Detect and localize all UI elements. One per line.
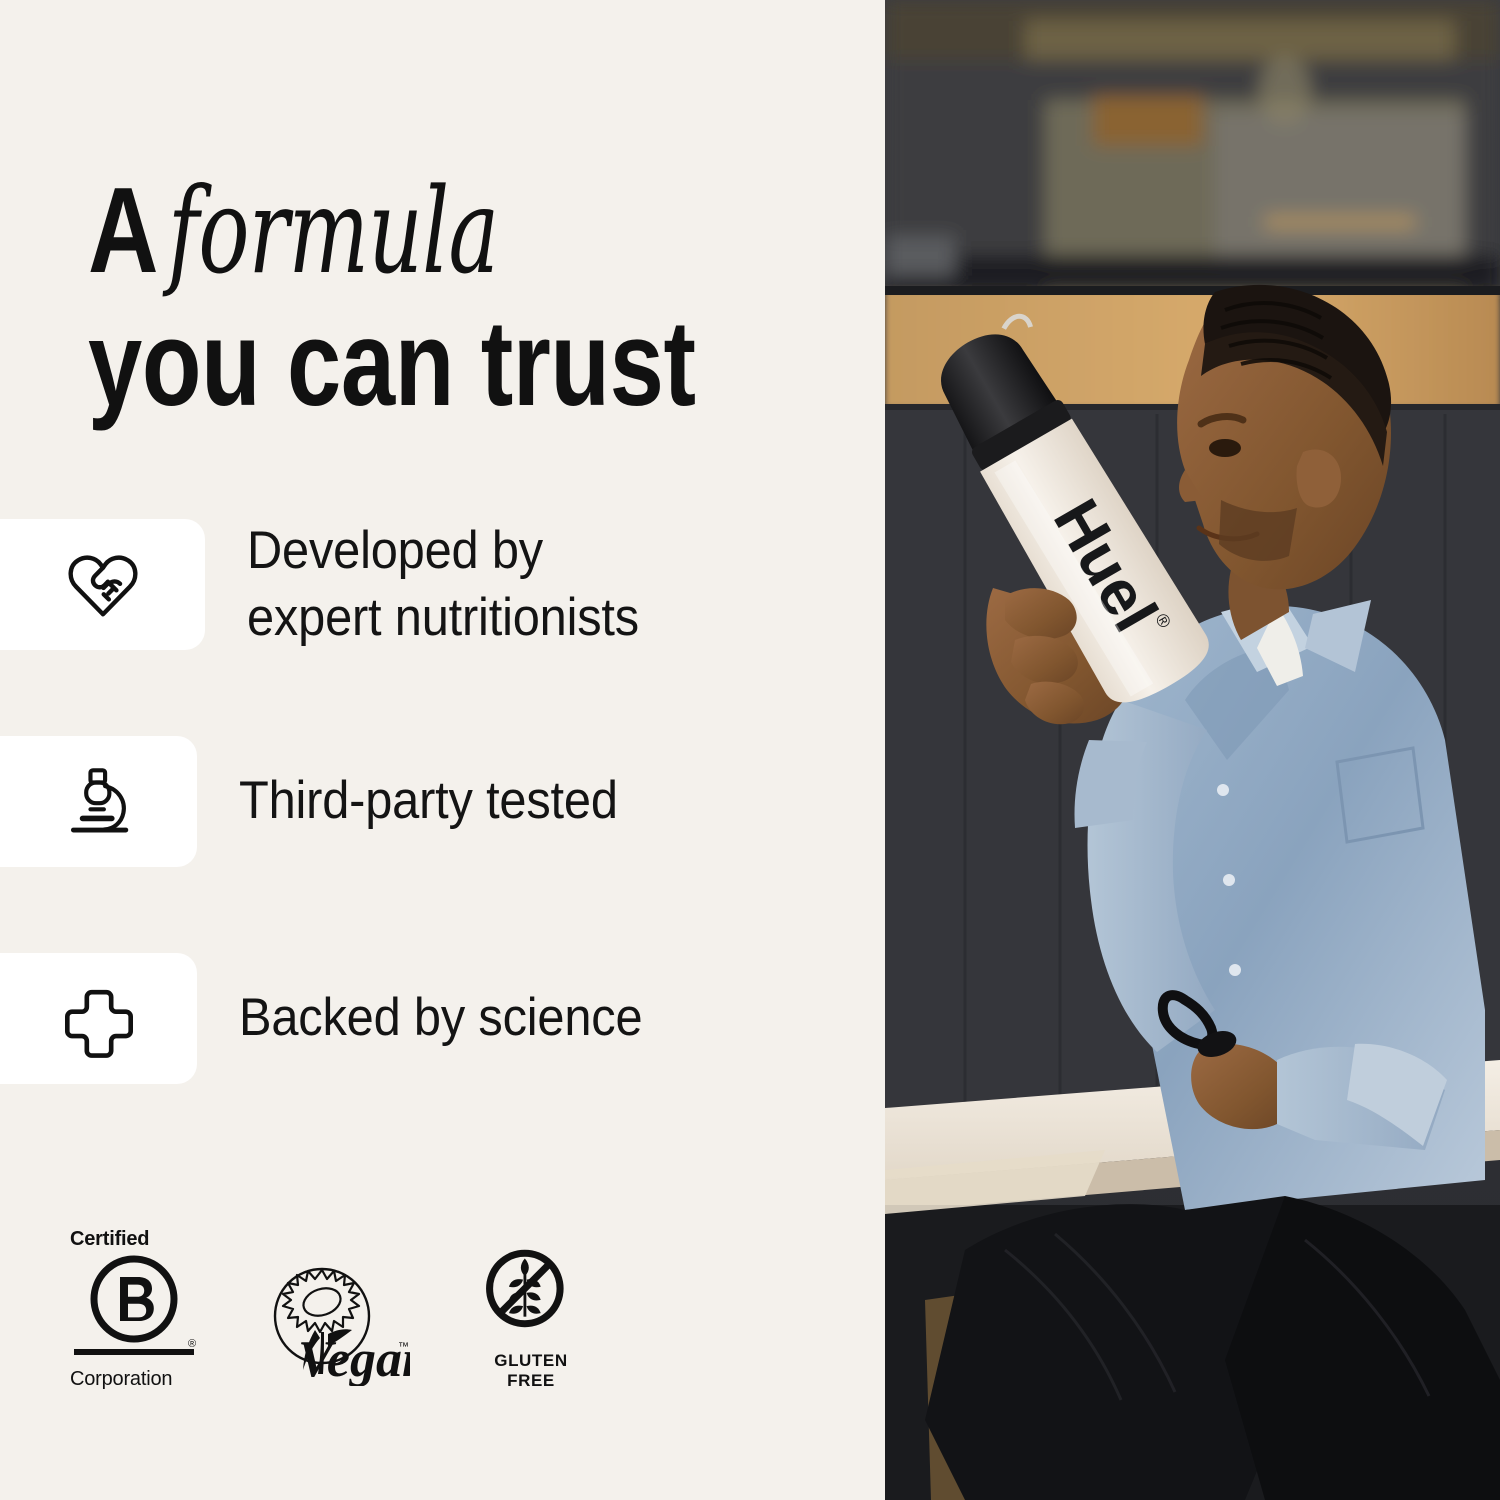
feature-list: Developed by expert nutritionists [0, 512, 885, 1163]
feature-item-third-party-tested: Third-party tested [0, 729, 885, 874]
left-content-panel: Aformula you can trust [0, 0, 885, 1500]
b-corp-bottom-label: Corporation [70, 1368, 198, 1391]
headline-line-1: Aformula [88, 171, 712, 289]
vegan-sunflower-icon: Vegan ™ [260, 1373, 410, 1390]
headline-line-2: you can trust [88, 304, 712, 422]
crossed-wheat-icon [479, 1327, 583, 1344]
photo-illustration: Huel ® [885, 0, 1500, 1500]
lifestyle-photo: Huel ® [885, 0, 1500, 1500]
heart-handshake-icon [64, 546, 142, 624]
page-title: Aformula you can trust [88, 171, 868, 422]
feature-label: Third-party tested [239, 768, 618, 834]
feature-item-backed-by-science: Backed by science [0, 946, 885, 1091]
gluten-free-badge: GLUTEN FREE [472, 1244, 590, 1391]
gluten-free-label: GLUTEN FREE [472, 1351, 590, 1391]
b-corp-top-label: Certified [70, 1228, 198, 1251]
feature-label: Backed by science [239, 985, 642, 1051]
b-corp-badge: Certified ® Corporation [70, 1228, 198, 1391]
feature-item-developed-by-nutritionists: Developed by expert nutritionists [0, 512, 885, 657]
b-corp-mark-icon: ® [70, 1255, 198, 1364]
huel-trust-panel: Aformula you can trust [0, 0, 1500, 1500]
headline-word-a: A [88, 162, 158, 298]
svg-text:®: ® [188, 1338, 196, 1350]
feature-label: Developed by expert nutritionists [247, 518, 639, 651]
svg-text:Vegan: Vegan [298, 1331, 410, 1386]
microscope-icon [60, 763, 138, 841]
feature-icon-card [0, 519, 205, 650]
feature-icon-card [0, 953, 197, 1084]
plus-cross-icon [60, 980, 138, 1058]
feature-icon-card [0, 736, 197, 867]
vegan-badge: Vegan ™ [260, 1254, 410, 1391]
certification-badges: Certified ® Corporation [70, 1228, 590, 1391]
headline-emphasis-formula: formula [158, 162, 498, 300]
svg-text:™: ™ [398, 1341, 409, 1353]
